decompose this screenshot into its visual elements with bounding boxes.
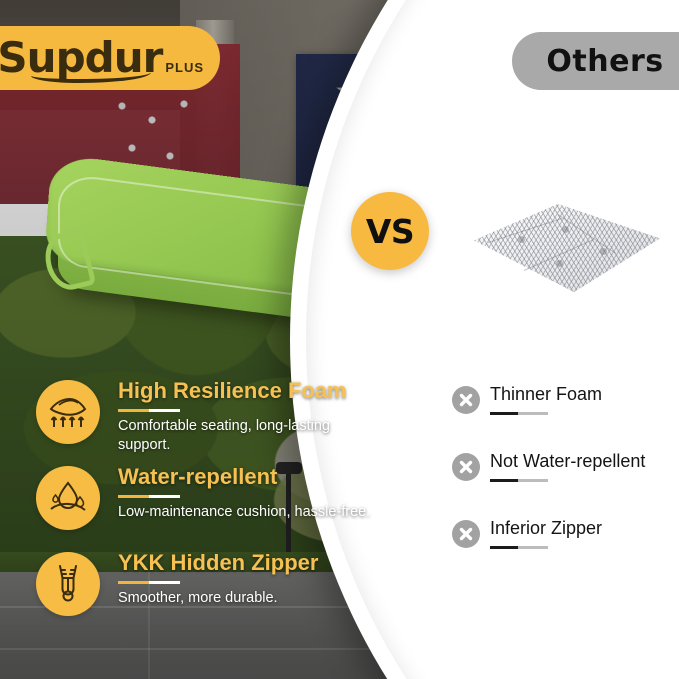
drawback-underline [490,412,548,415]
drawback-item: Inferior Zipper [452,520,678,587]
drawback-text: Thinner Foam [490,383,678,415]
feature-title: High Resilience Foam [118,378,376,404]
x-circle-icon [452,520,480,548]
feature-underline [118,409,180,412]
competitor-badge: Others [512,32,679,90]
drawback-item: Thinner Foam [452,386,678,453]
thin-tufted-cushion [462,200,662,296]
feature-subtitle: Smoother, more durable. [118,589,376,607]
feature-text: YKK Hidden Zipper Smoother, more durable… [118,550,376,608]
feature-item: YKK Hidden Zipper Smoother, more durable… [36,550,376,636]
feature-list: High Resilience Foam Comfortable seating… [36,378,376,636]
x-circle-icon [452,386,480,414]
feature-title: Water-repellent [118,464,376,490]
brand-logo-mark: Supdur PLUS [0,37,204,79]
comparison-infographic: Supdur PLUS Others VS [0,0,679,679]
cushion-tuft [600,248,607,255]
cushion-tuft [562,226,569,233]
feature-text: High Resilience Foam Comfortable seating… [118,378,376,454]
vs-label: VS [366,212,414,251]
brand-logo-badge: Supdur PLUS [0,26,220,90]
feature-subtitle: Comfortable seating, long-lasting suppor… [118,417,376,453]
competitor-label: Others [546,44,663,79]
feature-title: YKK Hidden Zipper [118,550,376,576]
drawback-text: Not Water-repellent [490,450,678,482]
foam-resilience-icon [36,380,100,444]
water-droplet-repellent-icon [36,466,100,530]
product-image-theirs [458,190,668,310]
feature-item: Water-repellent Low-maintenance cushion,… [36,464,376,550]
cushion-tuft [556,260,563,267]
feature-underline [118,581,180,584]
drawback-text: Inferior Zipper [490,517,678,549]
drawback-underline [490,479,548,482]
cushion-tuft [518,236,525,243]
x-circle-icon [452,453,480,481]
zipper-icon [36,552,100,616]
drawback-item: Not Water-repellent [452,453,678,520]
drawback-title: Inferior Zipper [490,517,678,540]
drawback-underline [490,546,548,549]
feature-text: Water-repellent Low-maintenance cushion,… [118,464,376,522]
drawback-title: Not Water-repellent [490,450,678,473]
vs-badge: VS [351,192,429,270]
brand-suffix: PLUS [165,60,204,75]
competitor-drawback-list: Thinner Foam Not Water-repellent [452,386,678,587]
drawback-title: Thinner Foam [490,383,678,406]
feature-subtitle: Low-maintenance cushion, hassle-free. [118,503,376,521]
feature-underline [118,495,180,498]
feature-item: High Resilience Foam Comfortable seating… [36,378,376,464]
